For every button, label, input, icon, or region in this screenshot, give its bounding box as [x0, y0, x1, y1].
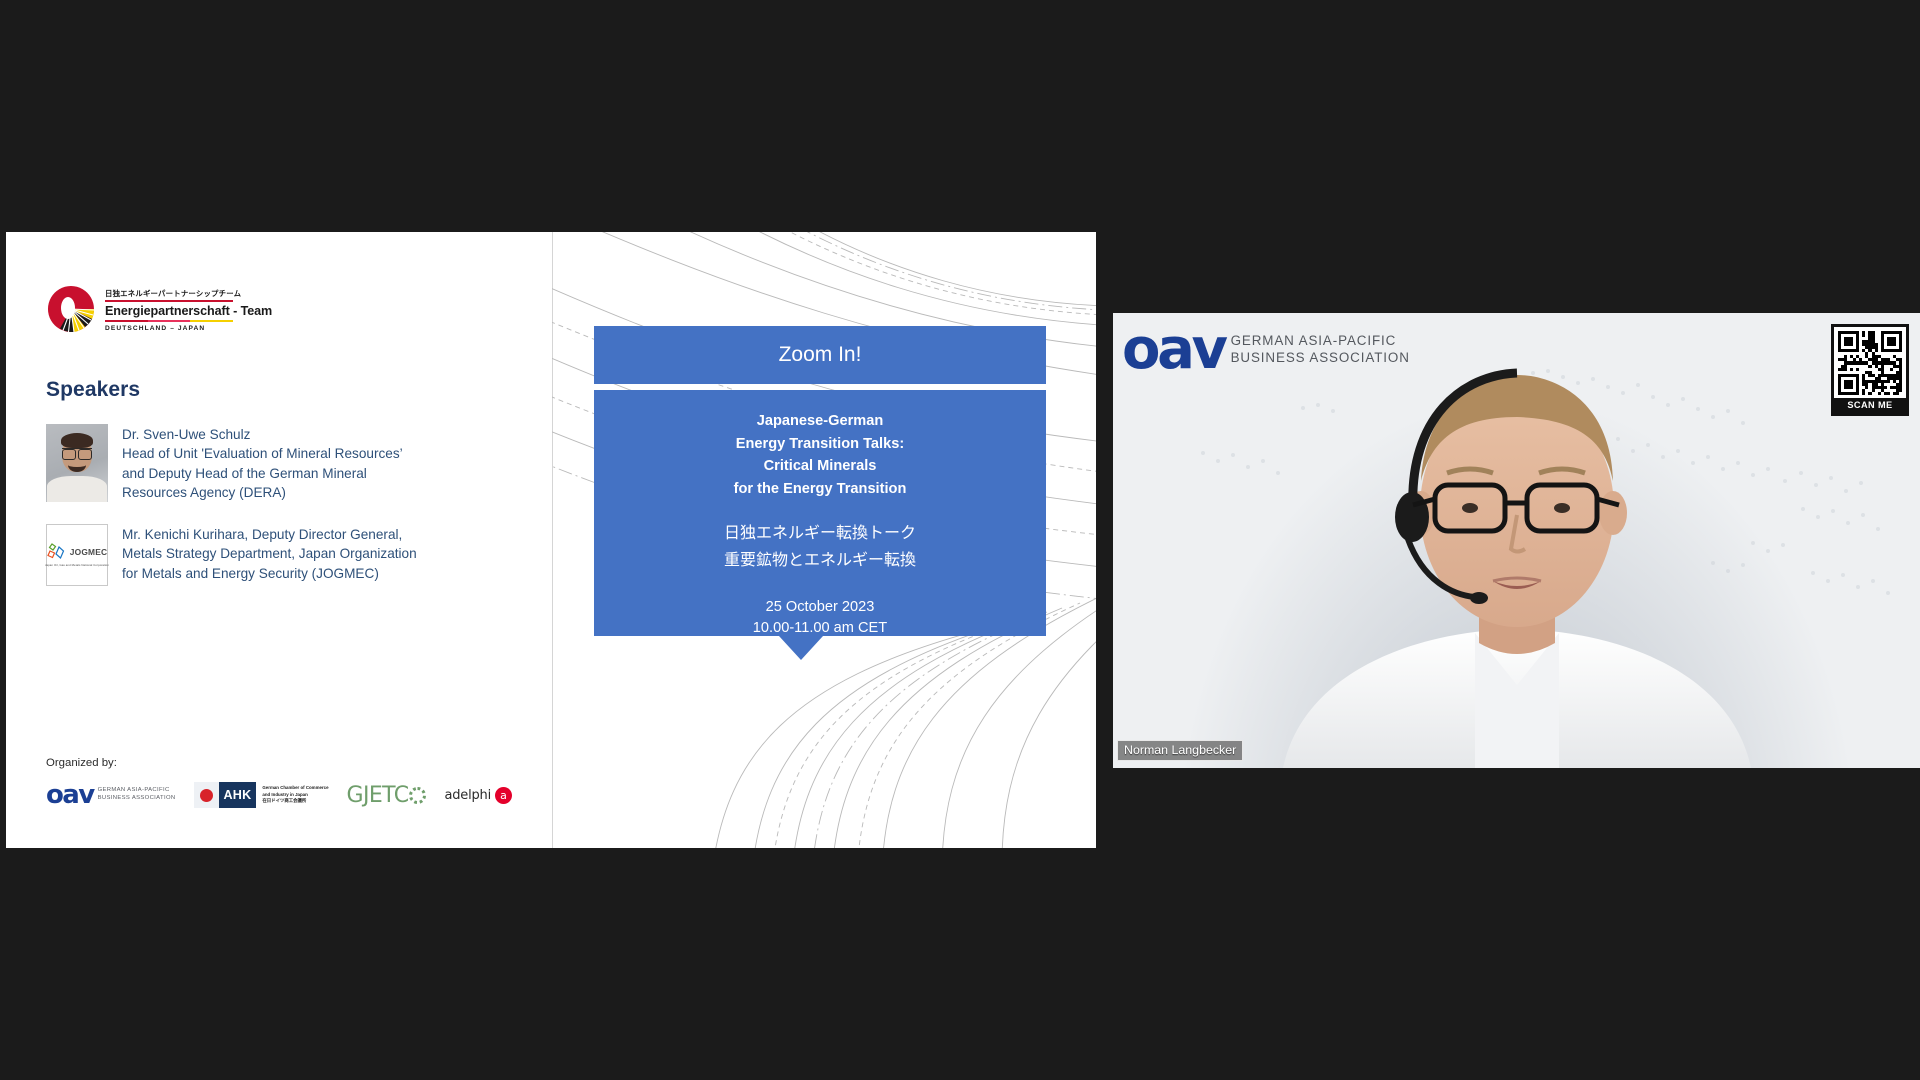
logo-rule-tricolor [105, 320, 233, 322]
adelphi-wordmark: adelphi [444, 788, 491, 803]
qr-code-icon [1838, 331, 1902, 395]
gjetc-ring-icon [409, 787, 426, 804]
qr-scan-label: SCAN ME [1834, 398, 1906, 413]
organized-by-section: Organized by: oav GERMAN ASIA-PACIFIC BU… [46, 757, 516, 808]
participant-name-tag: Norman Langbecker [1117, 740, 1243, 761]
oav-wordmark: oav [1122, 322, 1225, 378]
event-info-panel: Japanese-German Energy Transition Talks:… [594, 390, 1046, 636]
panel-pointer-shape [779, 636, 823, 660]
oav-logo-overlay: oav GERMAN ASIA-PACIFIC BUSINESS ASSOCIA… [1122, 322, 1410, 378]
logo-sub-line: DEUTSCHLAND – JAPAN [105, 325, 272, 332]
jogmec-wordmark: JOGMEC [70, 547, 108, 557]
oav-subtitle: GERMAN ASIA-PACIFIC BUSINESS ASSOCIATION [1231, 333, 1410, 367]
speaker-item: JOGMEC Japan Oil, Gas and Metals Nationa… [46, 524, 512, 586]
logo-de-line: Energiepartnerschaft - Team [105, 304, 272, 318]
organized-by-label: Organized by: [46, 757, 516, 769]
jogmec-mark-icon [47, 543, 67, 561]
adelphi-logo: adelphi a [444, 787, 512, 804]
event-title-en: Japanese-German Energy Transition Talks:… [734, 410, 907, 500]
jogmec-caption: Japan Oil, Gas and Metals National Corpo… [45, 563, 109, 567]
event-title-jp: 日独エネルギー転換トーク 重要鉱物とエネルギー転換 [724, 520, 916, 573]
oav-wordmark: oav [46, 782, 94, 808]
event-date: 25 October 2023 [753, 597, 887, 618]
energiepartnerschaft-logo: 日独エネルギーパートナーシップチーム Energiepartnerschaft … [46, 284, 512, 334]
speaker-title-line: Metals Strategy Department, Japan Organi… [122, 544, 417, 563]
speakers-heading: Speakers [46, 378, 512, 402]
oav-logo: oav GERMAN ASIA-PACIFIC BUSINESS ASSOCIA… [46, 782, 176, 808]
speaker-photo [46, 424, 108, 502]
zoom-in-banner: Zoom In! [594, 326, 1046, 384]
slide-left-column: 日独エネルギーパートナーシップチーム Energiepartnerschaft … [6, 232, 552, 848]
screen-capture: 日独エネルギーパートナーシップチーム Energiepartnerschaft … [0, 0, 1920, 1080]
jogmec-logo: JOGMEC Japan Oil, Gas and Metals Nationa… [46, 524, 108, 586]
ahk-mark-icon: AHK [194, 782, 257, 808]
qr-code-card[interactable]: SCAN ME [1831, 324, 1909, 416]
shared-slide: 日独エネルギーパートナーシップチーム Energiepartnerschaft … [6, 232, 1096, 848]
ahk-wordmark: AHK [219, 782, 257, 808]
ahk-logo: AHK German Chamber of Commerce and Indus… [194, 782, 329, 808]
participant-video-image [1113, 313, 1920, 768]
logo-jp-line: 日独エネルギーパートナーシップチーム [105, 288, 272, 299]
gjetc-logo: GJETC [347, 783, 427, 808]
slide-right-column: Zoom In! Japanese-German Energy Transiti… [552, 232, 1096, 848]
logo-rule-red [105, 300, 233, 301]
speaker-title-line: and Deputy Head of the German Mineral [122, 464, 403, 483]
speaker-title-line: Head of Unit 'Evaluation of Mineral Reso… [122, 444, 403, 463]
oav-subtitle: GERMAN ASIA-PACIFIC BUSINESS ASSOCIATION [98, 787, 176, 802]
speaker-name: Dr. Sven-Uwe Schulz [122, 425, 403, 444]
event-datetime: 25 October 2023 10.00-11.00 am CET [753, 597, 887, 638]
speaker-title-line: for Metals and Energy Security (JOGMEC) [122, 564, 417, 583]
speaker-name: Mr. Kenichi Kurihara, Deputy Director Ge… [122, 525, 417, 544]
energiepartnerschaft-mark-icon [46, 284, 96, 334]
adelphi-badge-icon: a [495, 787, 512, 804]
organizer-logo-row: oav GERMAN ASIA-PACIFIC BUSINESS ASSOCIA… [46, 782, 516, 808]
speaker-item: Dr. Sven-Uwe Schulz Head of Unit 'Evalua… [46, 424, 512, 502]
speaker-details: Mr. Kenichi Kurihara, Deputy Director Ge… [122, 524, 417, 583]
speaker-details: Dr. Sven-Uwe Schulz Head of Unit 'Evalua… [122, 424, 403, 502]
gjetc-wordmark: GJETC [347, 783, 409, 808]
ahk-subtitle: German Chamber of Commerce and Industry … [262, 785, 328, 804]
zoom-in-label: Zoom In! [779, 343, 862, 367]
speaker-title-line: Resources Agency (DERA) [122, 483, 403, 502]
video-tile[interactable]: oav GERMAN ASIA-PACIFIC BUSINESS ASSOCIA… [1113, 313, 1920, 768]
energiepartnerschaft-wordmark: 日独エネルギーパートナーシップチーム Energiepartnerschaft … [105, 286, 272, 332]
